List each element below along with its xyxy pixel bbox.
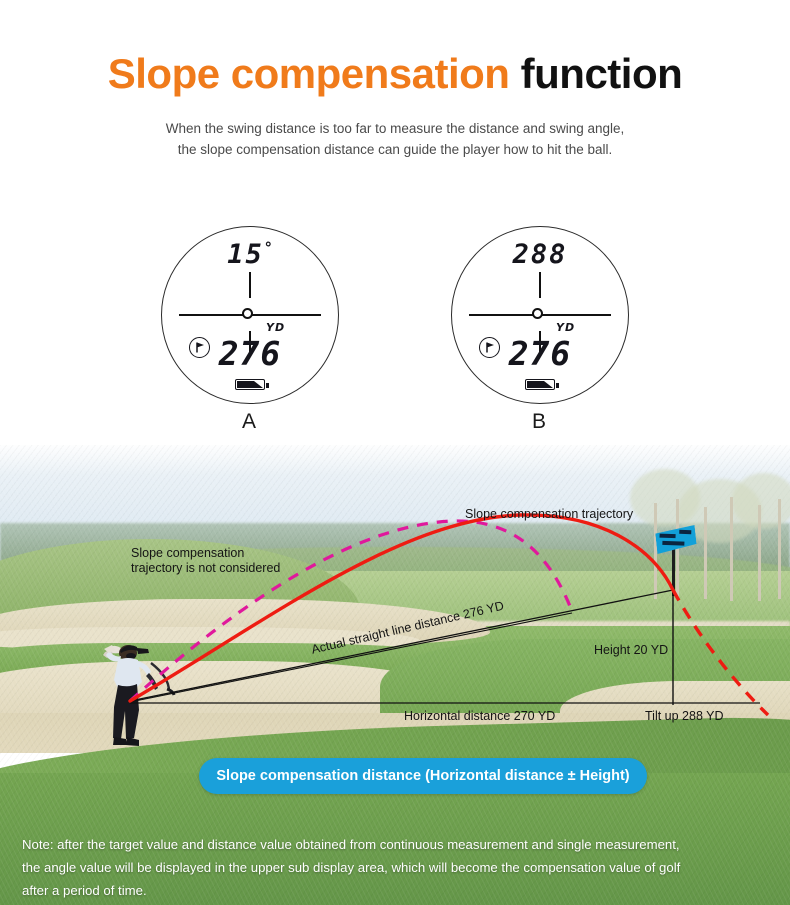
header-section: Slope compensation function When the swi… xyxy=(0,0,790,180)
battery-icon xyxy=(235,379,265,390)
crosshair-top xyxy=(539,272,541,298)
lcd-b-unit: YD xyxy=(556,321,575,334)
title-highlight: Slope compensation xyxy=(108,50,510,97)
page-subtitle: When the swing distance is too far to me… xyxy=(0,118,790,160)
lcd-label-a: A xyxy=(189,410,309,434)
label-tilt-up: Tilt up 288 YD xyxy=(645,709,724,724)
lcd-a-distance: 276 xyxy=(162,337,338,370)
battery-icon xyxy=(525,379,555,390)
lcd-label-b: B xyxy=(479,410,599,434)
crosshair-top xyxy=(249,272,251,298)
slope-compensation-distance-badge[interactable]: Slope compensation distance (Horizontal … xyxy=(199,758,647,794)
lcd-a-unit: YD xyxy=(266,321,285,334)
lcd-display-a: 15° YD 276 xyxy=(161,226,339,404)
slope-compensation-trajectory xyxy=(130,515,673,701)
footer-note-line-3: after a period of time. xyxy=(22,879,770,902)
battery-fill xyxy=(237,381,254,388)
label-horizontal-distance: Horizontal distance 270 YD xyxy=(404,709,555,724)
lcd-display-b: 288 YD 276 xyxy=(451,226,629,404)
label-height: Height 20 YD xyxy=(594,643,668,658)
lcd-b-tilt: 288 xyxy=(513,239,568,270)
title-rest: function xyxy=(521,50,683,97)
page-title: Slope compensation function xyxy=(0,52,790,96)
degree-icon: ° xyxy=(264,239,273,257)
label-no-compensation-line-1: Slope compensation xyxy=(131,546,280,561)
footer-note-line-1: Note: after the target value and distanc… xyxy=(22,833,770,856)
secondary-ray xyxy=(130,613,572,702)
straight-line-distance xyxy=(130,590,673,701)
label-slope-compensation-trajectory: Slope compensation trajectory xyxy=(465,507,633,522)
lcd-b-top-value: 288 xyxy=(452,241,628,268)
page-root: Slope compensation function When the swi… xyxy=(0,0,790,905)
label-no-compensation: Slope compensation trajectory is not con… xyxy=(131,546,280,576)
lcd-b-distance: 276 xyxy=(452,337,628,370)
battery-cap xyxy=(266,383,269,388)
battery-level xyxy=(544,381,553,388)
lcd-a-top-value: 15° xyxy=(162,241,338,268)
subtitle-line-2: the slope compensation distance can guid… xyxy=(0,139,790,160)
footer-note: Note: after the target value and distanc… xyxy=(22,833,770,902)
subtitle-line-1: When the swing distance is too far to me… xyxy=(0,118,790,139)
compensated-descent-trajectory xyxy=(673,590,768,715)
slope-compensation-distance-label: Slope compensation distance (Horizontal … xyxy=(216,768,629,784)
battery-cap xyxy=(556,383,559,388)
battery-fill xyxy=(527,381,544,388)
footer-note-line-2: the angle value will be displayed in the… xyxy=(22,856,770,879)
label-no-compensation-line-2: trajectory is not considered xyxy=(131,561,280,576)
lcd-a-angle: 15 xyxy=(227,239,264,270)
crosshair-center-dot xyxy=(532,308,543,319)
lcd-display-section: 15° YD 276 288 xyxy=(0,180,790,445)
battery-level xyxy=(254,381,263,388)
crosshair-center-dot xyxy=(242,308,253,319)
